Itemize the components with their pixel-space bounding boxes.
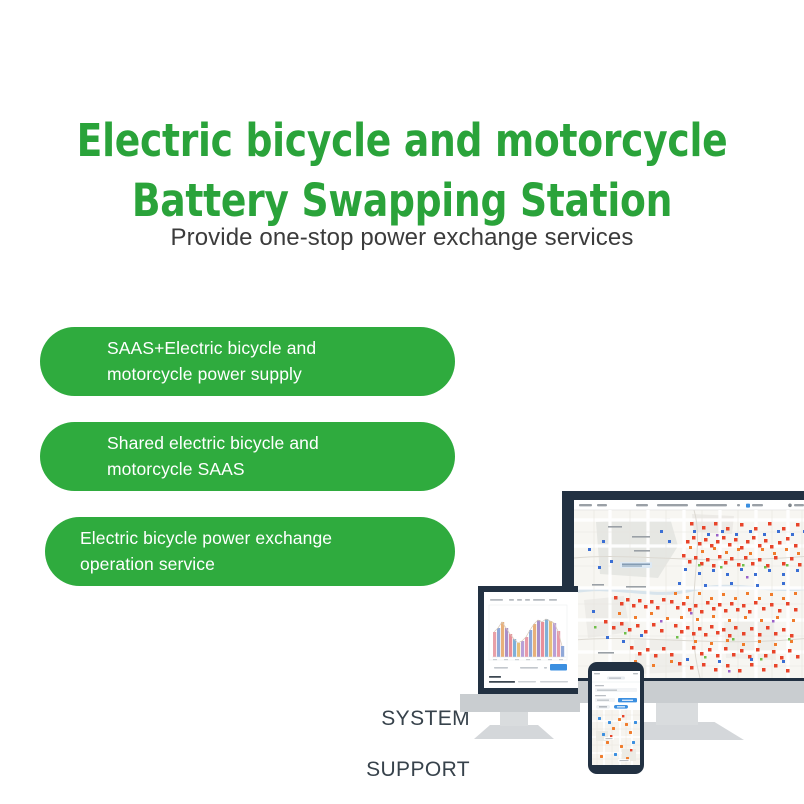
desktop-monitor <box>562 491 804 681</box>
chart-export-button <box>550 664 567 671</box>
device-mockup-group <box>460 470 804 804</box>
feature-pill-saas-power-supply[interactable]: SAAS+Electric bicycle and motorcycle pow… <box>40 327 455 396</box>
mobile-map-search-graphic <box>592 671 640 765</box>
secondary-monitor-neck <box>500 712 528 726</box>
system-support-line-1: SYSTEM <box>381 707 470 730</box>
feature-pill-shared-saas[interactable]: Shared electric bicycle and motorcycle S… <box>40 422 455 491</box>
secondary-monitor <box>478 586 578 694</box>
map-dashboard-graphic <box>574 500 804 678</box>
feature-pill-operation-service[interactable]: Electric bicycle power exchange operatio… <box>45 517 455 586</box>
system-support-line-2: SUPPORT <box>366 758 470 781</box>
page-title-line-1: Electric bicycle and motorcycle <box>77 114 728 167</box>
monitor-neck <box>656 703 698 725</box>
smartphone <box>588 662 644 774</box>
feature-pill-list: SAAS+Electric bicycle and motorcycle pow… <box>0 327 500 586</box>
secondary-monitor-screen[interactable] <box>484 592 578 688</box>
desktop-monitor-screen[interactable] <box>574 500 804 678</box>
poster-canvas: Electric bicycle and motorcycle Battery … <box>0 0 804 804</box>
bar-chart-report-graphic <box>484 592 578 688</box>
secondary-monitor-base <box>474 725 554 739</box>
page-title-line-2: Battery Swapping Station <box>28 171 776 230</box>
feature-pill-label: Electric bicycle power exchange operatio… <box>80 526 332 577</box>
feature-pill-label: SAAS+Electric bicycle and motorcycle pow… <box>107 336 316 387</box>
page-title: Electric bicycle and motorcycle Battery … <box>28 52 776 290</box>
secondary-monitor-chin <box>460 694 580 712</box>
system-support-caption: SYSTEM SUPPORT <box>300 680 470 782</box>
page-subtitle: Provide one-stop power exchange services <box>0 224 804 252</box>
smartphone-screen[interactable] <box>592 671 640 765</box>
feature-pill-label: Shared electric bicycle and motorcycle S… <box>107 431 319 482</box>
